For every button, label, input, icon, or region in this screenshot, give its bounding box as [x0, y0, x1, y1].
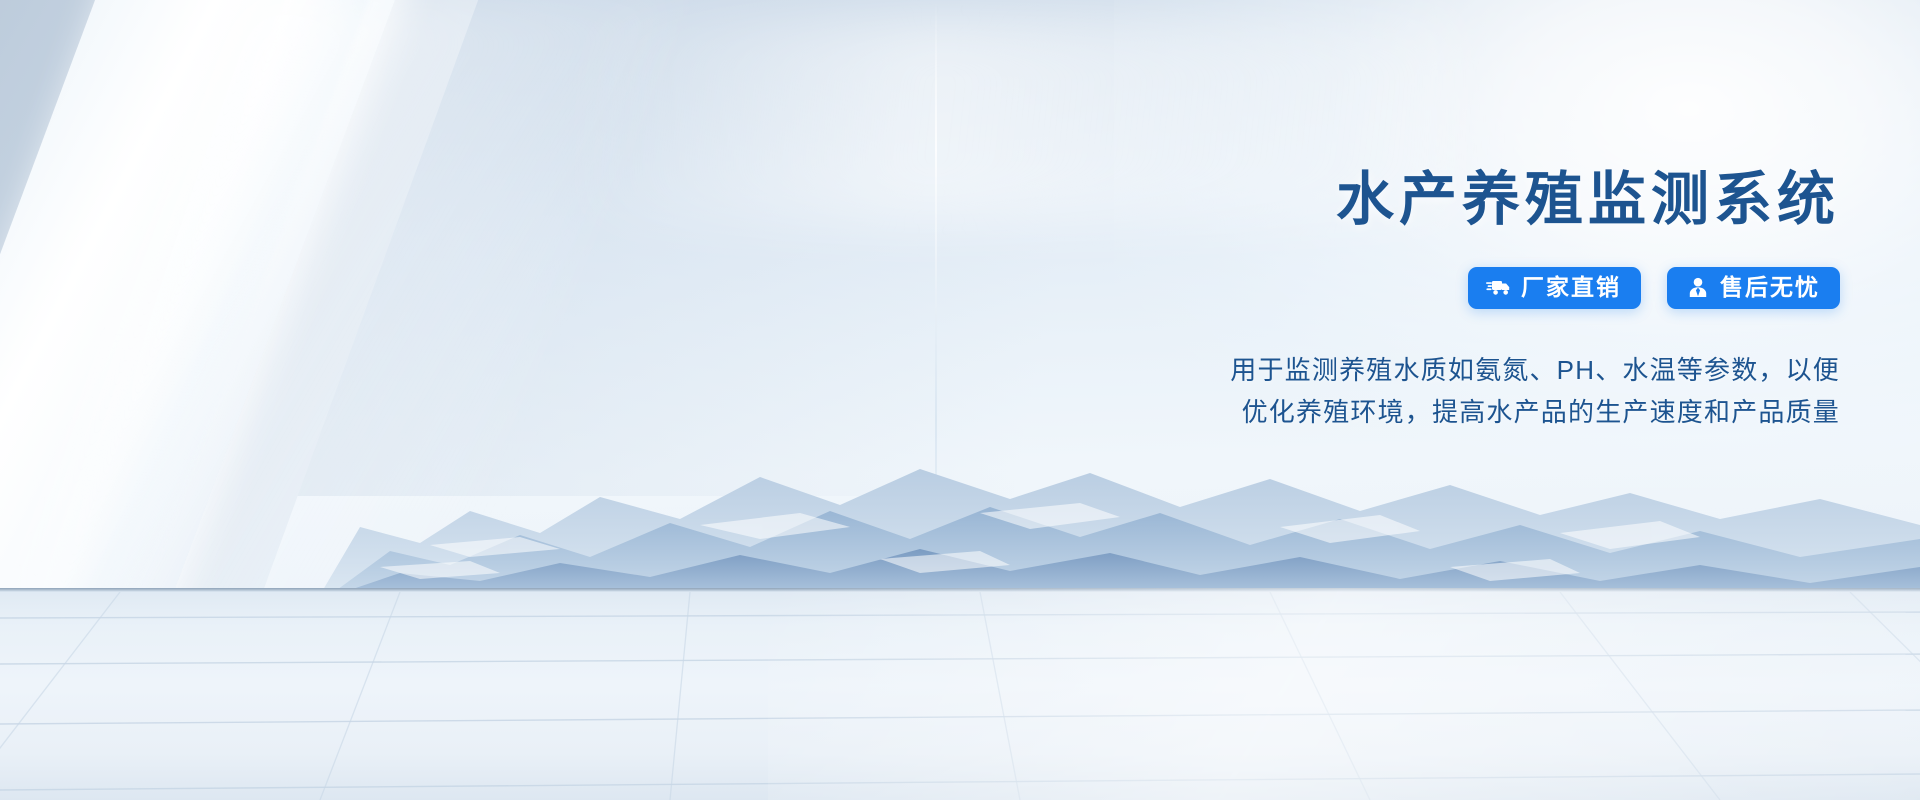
- page-title: 水产养殖监测系统: [1120, 168, 1840, 233]
- badge-label: 厂家直销: [1521, 276, 1621, 299]
- description-line-1: 用于监测养殖水质如氨氮、PH、水温等参数，以便: [1120, 349, 1840, 391]
- description-line-2: 优化养殖环境，提高水产品的生产速度和产品质量: [1120, 391, 1840, 433]
- badge-label: 售后无忧: [1720, 276, 1820, 299]
- floor-tile-grid: [0, 592, 1920, 800]
- plaza-floor: [0, 588, 1920, 800]
- banner-content: 水产养殖监测系统 厂家直销: [1120, 168, 1840, 433]
- badge-after-sales[interactable]: 售后无忧: [1667, 267, 1840, 309]
- truck-icon: [1486, 276, 1512, 298]
- hero-banner: 水产养殖监测系统 厂家直销: [0, 0, 1920, 800]
- support-agent-icon: [1685, 276, 1711, 298]
- badge-factory-direct[interactable]: 厂家直销: [1468, 267, 1641, 309]
- badge-group: 厂家直销 售后无忧: [1120, 267, 1840, 309]
- description-block: 用于监测养殖水质如氨氮、PH、水温等参数，以便 优化养殖环境，提高水产品的生产速…: [1120, 349, 1840, 433]
- mountain-range: [0, 415, 1920, 595]
